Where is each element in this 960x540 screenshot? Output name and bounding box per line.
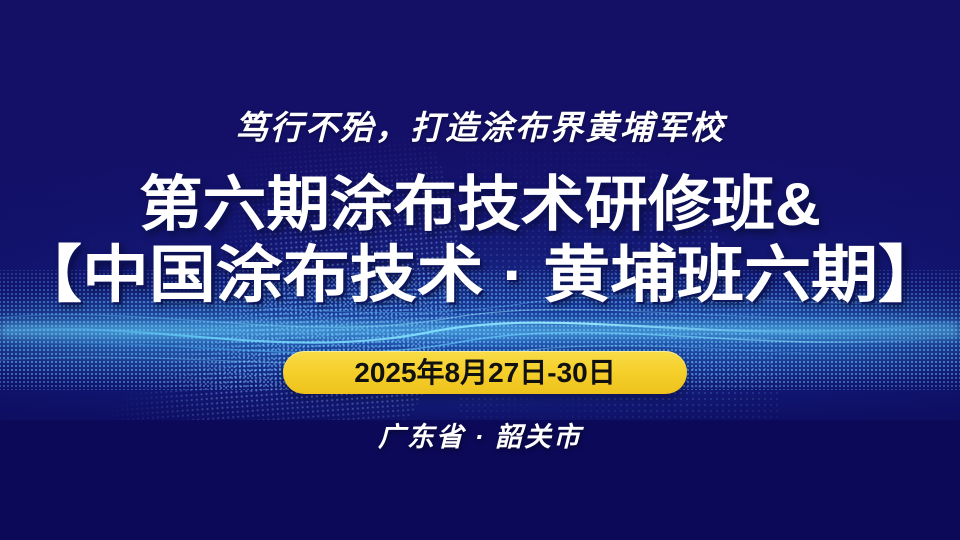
poster-content: 笃行不殆，打造涂布界黄埔军校 第六期涂布技术研修班& 【中国涂布技术 · 黄埔班…	[0, 0, 960, 540]
poster-subtitle: 笃行不殆，打造涂布界黄埔军校	[0, 101, 960, 149]
event-date-badge: 2025年8月27日-30日	[283, 351, 687, 394]
poster-title-line-2: 【中国涂布技术 · 黄埔班六期】	[0, 245, 960, 307]
event-poster: 笃行不殆，打造涂布界黄埔军校 第六期涂布技术研修班& 【中国涂布技术 · 黄埔班…	[0, 0, 960, 540]
event-date-text: 2025年8月27日-30日	[354, 359, 615, 387]
event-location: 广东省 · 韶关市	[0, 415, 960, 454]
poster-title-line-1: 第六期涂布技术研修班&	[0, 175, 960, 235]
poster-title: 第六期涂布技术研修班& 【中国涂布技术 · 黄埔班六期】	[0, 175, 960, 307]
